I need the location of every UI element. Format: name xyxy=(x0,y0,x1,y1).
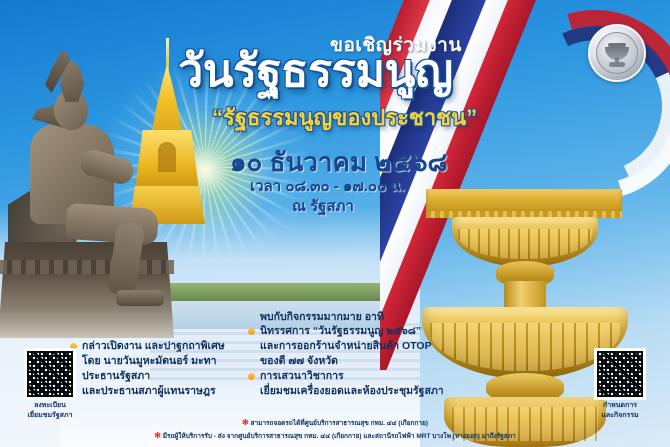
statue-lap xyxy=(65,203,159,245)
statue-pedestal-band xyxy=(0,260,174,274)
event-poster: ขอเชิญร่วมงาน วันรัฐธรรมนูญ “รัฐธรรมนูญข… xyxy=(0,0,670,447)
activity-item-1: นิทรรศการ “วันรัฐธรรมนูญ ๒๕๖๘” xyxy=(248,324,463,339)
poster-subtitle: “รัฐธรรมนูญของประชาชน” xyxy=(212,100,477,135)
building-green-roof xyxy=(160,283,390,301)
king-statue-image xyxy=(8,46,188,336)
page-title: วันรัฐธรรมนูญ xyxy=(178,48,453,93)
emblem-top-bar xyxy=(608,43,626,47)
qr-left-caption-1: ลงทะเบียน xyxy=(22,402,78,411)
activity-item-2-cont: เยี่ยมชมเครื่องยอดและห้องประชุมรัฐสภา xyxy=(248,384,463,399)
activity-item-2: การเสวนาวิชาการ xyxy=(248,369,463,384)
opening-line-2: โดย นายวันมูหะมัดนอร์ มะทา xyxy=(70,354,245,369)
qr-code-icon-right[interactable] xyxy=(594,348,646,400)
activity-item-1-cont: และการออกร้านจำหน่ายสินค้า OTOP xyxy=(248,339,463,354)
footer-note-row-2: ✻ มีรถผู้ให้บริการรับ - ส่ง จากศูนย์บริก… xyxy=(0,430,670,443)
footer-notes: ✻ สามารถจอดรถได้ที่ศูนย์บริการสาธารณสุข … xyxy=(0,417,670,443)
parliament-emblem-icon xyxy=(588,24,646,82)
opening-ceremony-block: กล่าวเปิดงาน และปาฐกถาพิเศษ โดย นายวันมู… xyxy=(70,339,245,399)
activities-heading: พบกับกิจกรรมมากมาย อาทิ xyxy=(248,310,463,325)
activity-item-1-cont2: ของดี ๗๗ จังหวัด xyxy=(248,354,463,369)
activities-block: พบกับกิจกรรมมากมาย อาทิ นิทรรศการ “วันรั… xyxy=(248,310,463,399)
statue-foot xyxy=(116,290,164,306)
event-venue: ณ รัฐสภา xyxy=(292,194,354,218)
asterisk-icon-2: ✻ xyxy=(154,431,161,440)
pedestal-upper-bowl xyxy=(452,217,598,267)
footer-note-1: สามารถจอดรถได้ที่ศูนย์บริการสาธารณสุข กท… xyxy=(250,420,428,427)
emblem-foot xyxy=(609,62,625,67)
opening-line-3: ประธานรัฐสภา xyxy=(70,369,245,384)
qr-register-visit[interactable]: ลงทะเบียน เยี่ยมชมรัฐสภา xyxy=(22,348,78,422)
qr-code-icon-left[interactable] xyxy=(24,348,76,400)
emblem-inner-ring xyxy=(596,32,638,74)
opening-line-4: และประธานสภาผู้แทนราษฎร xyxy=(70,384,245,399)
opening-line-1: กล่าวเปิดงาน และปาฐกถาพิเศษ xyxy=(70,339,245,354)
footer-note-2: มีรถผู้ให้บริการรับ - ส่ง จากศูนย์บริการ… xyxy=(163,433,516,440)
footer-note-row-1: ✻ สามารถจอดรถได้ที่ศูนย์บริการสาธารณสุข … xyxy=(0,417,670,430)
asterisk-icon-1: ✻ xyxy=(242,418,249,427)
qr-right-caption-1: กำหนดการ xyxy=(592,402,648,411)
qr-schedule-activities[interactable]: กำหนดการ และกิจกรรม xyxy=(592,348,648,422)
